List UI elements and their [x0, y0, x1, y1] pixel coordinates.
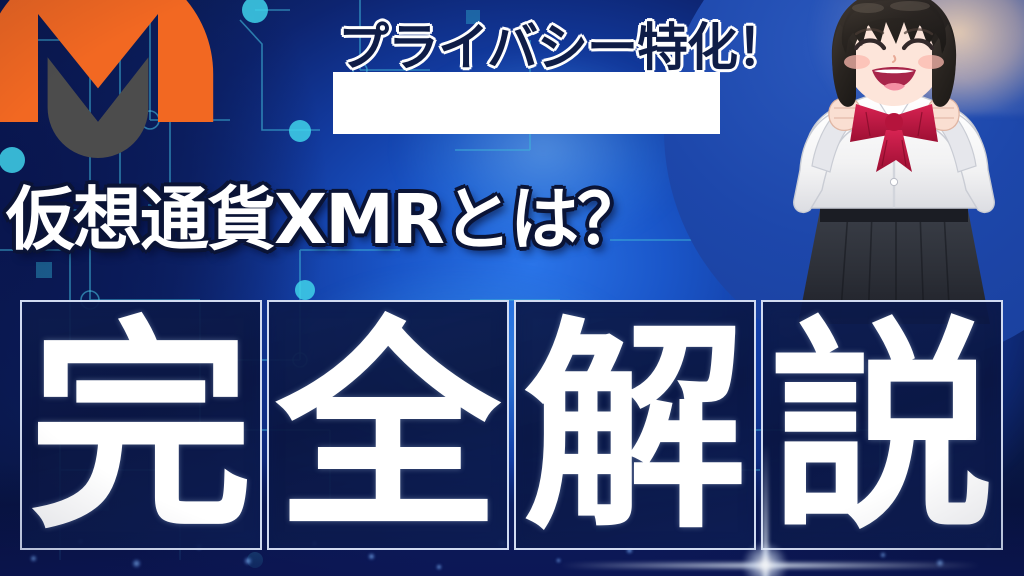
background-vignette	[0, 0, 1024, 576]
thumbnail-canvas: プライバシー特化！ 仮想通貨XMRとは？ 完 全 解 説	[0, 0, 1024, 576]
